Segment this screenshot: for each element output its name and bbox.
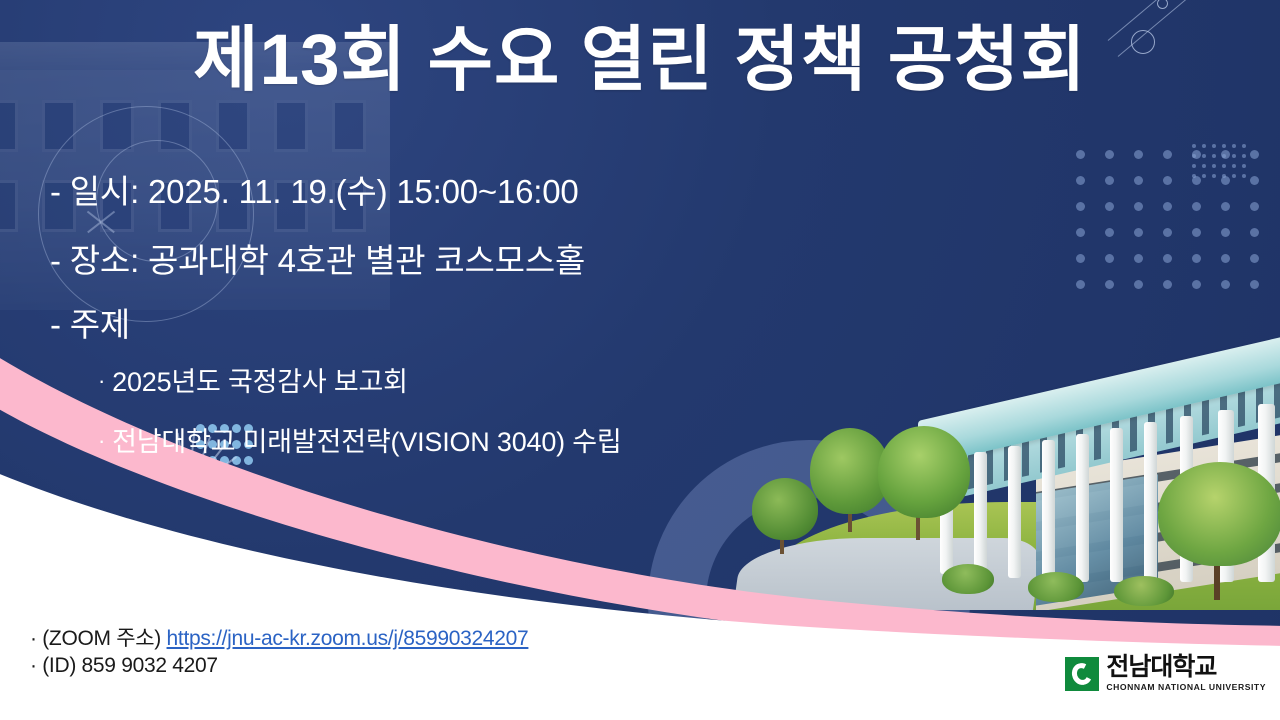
zoom-address-label: · (ZOOM 주소) [30,627,161,650]
event-poster: 제13회 수요 열린 정책 공청회 - 일시: 2025. 11. 19.(수)… [0,0,1280,720]
bullet-dot-icon: · [98,428,105,453]
tree [878,426,970,518]
info-line-datetime: - 일시: 2025. 11. 19.(수) 15:00~16:00 [50,165,579,213]
zoom-address-line: · (ZOOM 주소) https://jnu-ac-kr.zoom.us/j/… [30,622,528,652]
shrub [1028,572,1084,602]
zoom-id-line: · (ID) 859 9032 4207 [30,654,218,678]
info-line-location: - 장소: 공과대학 4호관 별관 코스모스홀 [50,234,585,282]
tree [752,478,818,540]
page-title: 제13회 수요 열린 정책 공청회 [0,24,1280,99]
info-line-topic-heading: - 주제 [50,298,130,346]
topic-item-2: ·전남대학교 미래발전전략(VISION 3040) 수립 [98,420,622,459]
bullet-dot-icon: · [98,368,105,393]
university-logo: 전남대학교 CHONNAM NATIONAL UNIVERSITY [1065,655,1266,692]
tree [1158,462,1280,566]
university-name-korean: 전남대학교 [1106,655,1266,680]
university-emblem-icon [1065,657,1099,691]
topic-text: 2025년도 국정감사 보고회 [112,367,408,397]
university-name-english: CHONNAM NATIONAL UNIVERSITY [1106,683,1266,692]
shrub [942,564,994,594]
campus-building-photo [728,320,1280,610]
topic-text: 전남대학교 미래발전전략(VISION 3040) 수립 [112,427,621,457]
decor-dot-grid-tiny [1192,144,1246,178]
shrub [1114,576,1174,606]
zoom-url-link[interactable]: https://jnu-ac-kr.zoom.us/j/85990324207 [167,627,529,650]
topic-item-1: ·2025년도 국정감사 보고회 [98,360,408,399]
